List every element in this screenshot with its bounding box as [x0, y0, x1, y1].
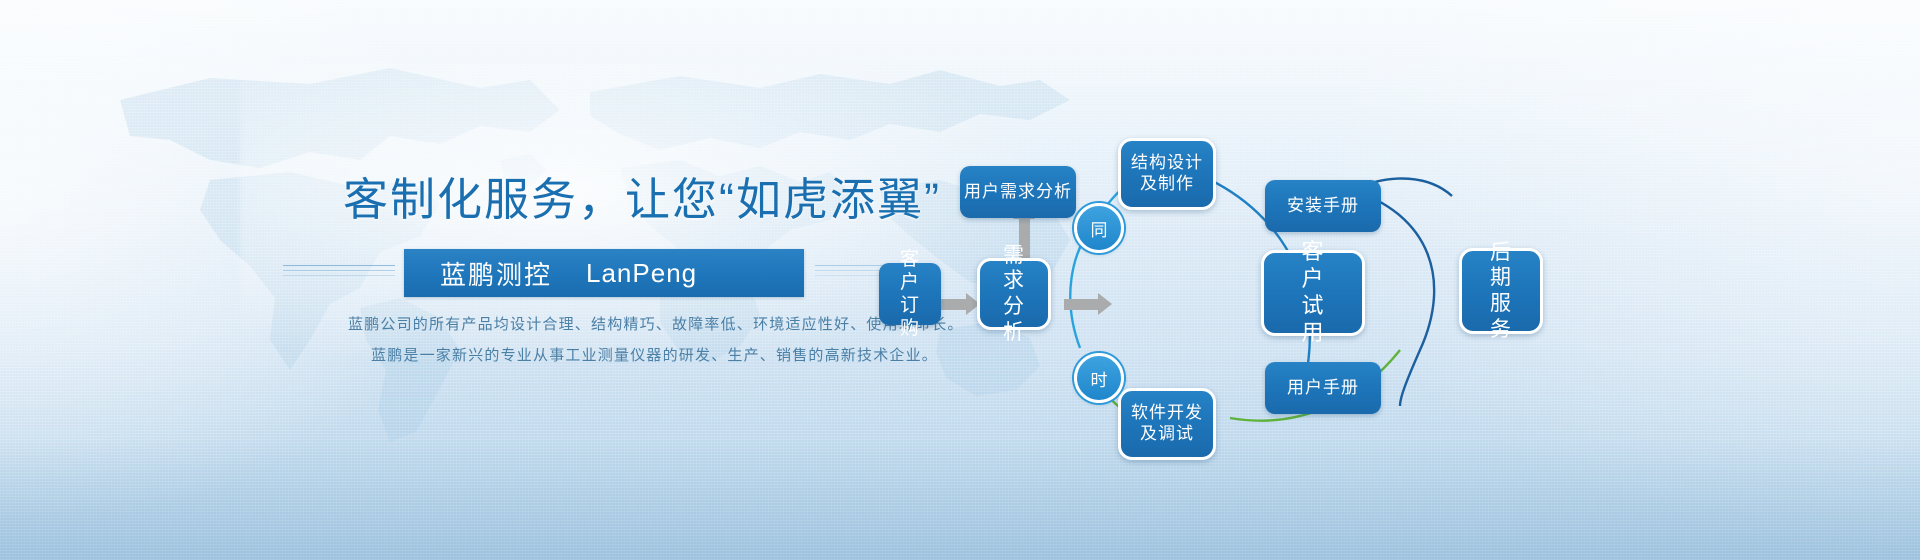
flow-node-label: 结构设计 及制作: [1131, 153, 1203, 194]
flow-node-label: 客户试用: [1299, 239, 1327, 346]
banner: 客制化服务，让您“如虎添翼” 蓝鹏测控 LanPeng 蓝鹏公司的所有产品均设计…: [0, 0, 1920, 560]
flow-badge-same: 同: [1074, 203, 1124, 253]
flow-badge-label: 同: [1091, 216, 1108, 241]
flow-node-customer-trial[interactable]: 客户试用: [1261, 250, 1365, 336]
flow-node-label: 客户订购: [898, 248, 922, 341]
flow-node-label: 软件开发 及调试: [1131, 403, 1203, 444]
flow-badge-label: 时: [1091, 366, 1108, 391]
flow-node-software-development-and-debug[interactable]: 软件开发 及调试: [1118, 388, 1216, 460]
flow-node-requirement-analysis[interactable]: 需求分析: [977, 258, 1051, 330]
flow-node-user-manual[interactable]: 用户手册: [1265, 362, 1381, 414]
arrow-analysis-to-next: [1064, 293, 1112, 315]
flow-node-label: 用户手册: [1287, 378, 1359, 399]
flow-badge-time: 时: [1074, 353, 1124, 403]
flow-node-label: 安装手册: [1287, 196, 1359, 217]
flow-node-customer-order[interactable]: 客户订购: [879, 263, 941, 325]
flow-node-after-sales-service[interactable]: 后期服务: [1459, 248, 1543, 334]
flow-node-label: 用户需求分析: [964, 182, 1072, 203]
flow-node-label: 需求分析: [1001, 243, 1027, 345]
flow-node-user-requirement-analysis[interactable]: 用户需求分析: [960, 166, 1076, 218]
flow-node-label: 后期服务: [1488, 240, 1514, 342]
flow-node-installation-manual[interactable]: 安装手册: [1265, 180, 1381, 232]
flow-connectors: [0, 0, 1920, 560]
flow-node-structure-design-and-manufacture[interactable]: 结构设计 及制作: [1118, 138, 1216, 210]
